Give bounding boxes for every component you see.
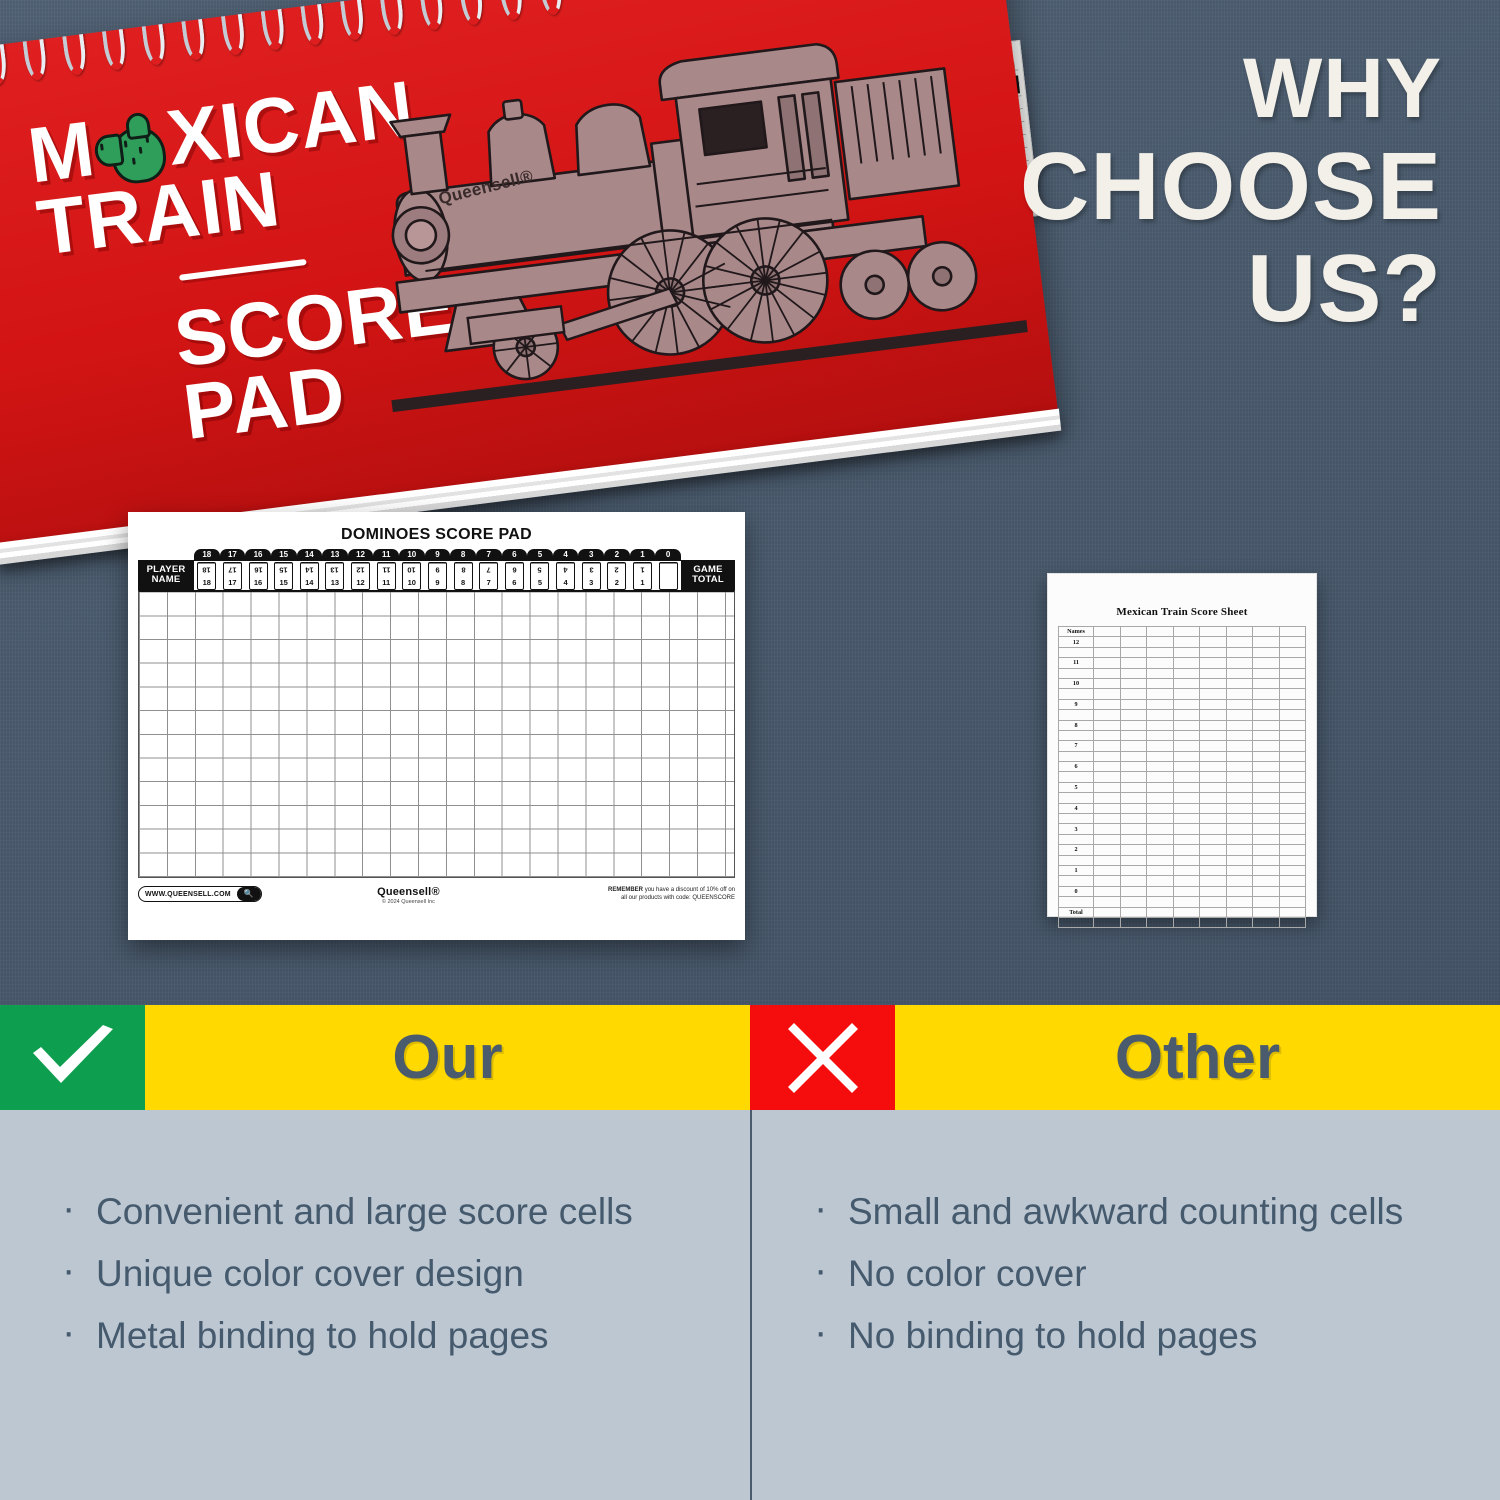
magnifier-icon: 🔍 (237, 887, 261, 901)
domino-tile-icon: 44 (556, 562, 575, 590)
competitor-row-label: 0 (1059, 886, 1094, 896)
competitor-score-cell (1173, 855, 1200, 865)
competitor-score-cell (1173, 824, 1200, 834)
competitor-score-cell (1200, 772, 1227, 782)
footer-brand-block: Queensell® © 2024 Queensell Inc (262, 886, 555, 905)
domino-tile-icon: 22 (607, 562, 626, 590)
domino-column-number: 11 (373, 549, 399, 561)
domino-column: 333 (578, 549, 604, 590)
competitor-score-cell (1226, 762, 1253, 772)
competitor-score-cell (1147, 876, 1174, 886)
competitor-score-cell (1253, 814, 1280, 824)
our-sheet-header-row: PLAYER NAME 1818181717171616161515151414… (138, 546, 735, 590)
competitor-score-cell (1253, 803, 1280, 813)
competitor-score-cell (1094, 782, 1121, 792)
competitor-score-cell (1094, 668, 1121, 678)
competitor-score-cell (1173, 886, 1200, 896)
domino-column-number: 5 (527, 549, 553, 561)
competitor-score-cell (1173, 699, 1200, 709)
competitor-score-cell (1200, 689, 1227, 699)
competitor-score-cell (1120, 886, 1147, 896)
competitor-row-label: Names (1059, 627, 1094, 637)
competitor-score-cell (1253, 637, 1280, 647)
competitor-score-cell (1094, 834, 1121, 844)
competitor-row-label: 4 (1059, 803, 1094, 813)
competitor-score-cell (1200, 782, 1227, 792)
competitor-score-cell (1253, 782, 1280, 792)
competitor-score-cell (1120, 720, 1147, 730)
our-label: Our (392, 1022, 502, 1093)
competitor-score-cell (1173, 689, 1200, 699)
competitor-score-cell (1173, 897, 1200, 907)
competitor-score-cell (1094, 647, 1121, 657)
competitor-score-sheet: Mexican Train Score Sheet Names121110987… (1047, 573, 1317, 917)
domino-column-number: 7 (476, 549, 502, 561)
competitor-score-cell (1147, 845, 1174, 855)
domino-column: 444 (553, 549, 579, 590)
domino-column-number: 6 (502, 549, 528, 561)
competitor-score-cell (1226, 917, 1253, 927)
competitor-score-cell (1173, 647, 1200, 657)
competitor-score-cell (1120, 647, 1147, 657)
domino-tile-icon: 1616 (249, 562, 268, 590)
competitor-score-cell (1147, 730, 1174, 740)
domino-column: 121212 (348, 549, 374, 590)
competitor-score-cell (1173, 668, 1200, 678)
domino-tile-icon: 88 (454, 562, 473, 590)
domino-tile-icon: 1818 (197, 562, 216, 590)
competitor-score-cell (1094, 907, 1121, 917)
competitor-score-cell (1147, 658, 1174, 668)
competitor-table-row: 8 (1059, 720, 1306, 730)
competitor-score-cell (1279, 647, 1306, 657)
competitor-score-cell (1120, 907, 1147, 917)
competitor-score-cell (1147, 647, 1174, 657)
competitor-score-cell (1200, 793, 1227, 803)
competitor-table-row: 10 (1059, 678, 1306, 688)
competitor-score-cell (1147, 814, 1174, 824)
page-title: WHY CHOOSE US? (802, 46, 1442, 337)
domino-column: 141414 (297, 549, 323, 590)
website-badge: WWW.QUEENSELL.COM 🔍 (138, 886, 262, 902)
competitor-score-cell (1253, 762, 1280, 772)
comparison-banners: Our Other (0, 1005, 1500, 1110)
competitor-score-cell (1226, 834, 1253, 844)
our-sheet-footer: WWW.QUEENSELL.COM 🔍 Queensell® © 2024 Qu… (138, 886, 735, 905)
competitor-score-cell (1226, 710, 1253, 720)
competitor-score-cell (1279, 855, 1306, 865)
competitor-score-cell (1094, 710, 1121, 720)
cover-divider (179, 258, 307, 280)
competitor-score-cell (1200, 699, 1227, 709)
competitor-score-cell (1279, 793, 1306, 803)
competitor-score-cell (1226, 699, 1253, 709)
competitor-score-cell (1200, 658, 1227, 668)
domino-column: 555 (527, 549, 553, 590)
competitor-score-cell (1279, 886, 1306, 896)
competitor-score-cell (1173, 658, 1200, 668)
competitor-score-cell (1226, 907, 1253, 917)
competitor-score-cell (1120, 689, 1147, 699)
competitor-score-cell (1173, 845, 1200, 855)
competitor-score-cell (1094, 658, 1121, 668)
competitor-score-cell (1147, 678, 1174, 688)
competitor-score-cell (1226, 668, 1253, 678)
competitor-score-cell (1120, 814, 1147, 824)
competitor-score-cell (1253, 793, 1280, 803)
competitor-score-cell (1253, 834, 1280, 844)
competitor-score-cell (1147, 699, 1174, 709)
domino-tile-icon: 33 (582, 562, 601, 590)
domino-column: 0 (655, 549, 681, 590)
competitor-score-cell (1253, 720, 1280, 730)
competitor-table-row (1059, 668, 1306, 678)
competitor-row-label (1059, 647, 1094, 657)
competitor-score-cell (1094, 876, 1121, 886)
domino-column-number: 9 (425, 549, 451, 561)
competitor-score-cell (1120, 897, 1147, 907)
game-total-line2: TOTAL (681, 575, 735, 585)
competitor-score-cell (1279, 845, 1306, 855)
competitor-score-cell (1120, 668, 1147, 678)
competitor-score-cell (1173, 772, 1200, 782)
domino-column-number: 14 (297, 549, 323, 561)
competitor-score-cell (1200, 855, 1227, 865)
competitor-score-cell (1120, 762, 1147, 772)
bullet-item: No binding to hold pages (814, 1310, 1460, 1362)
competitor-score-cell (1094, 793, 1121, 803)
competitor-row-label (1059, 855, 1094, 865)
competitor-score-cell (1253, 897, 1280, 907)
other-label-banner: Other (895, 1005, 1500, 1110)
competitor-score-cell (1147, 668, 1174, 678)
cactus-icon (91, 113, 172, 184)
competitor-table-row (1059, 751, 1306, 761)
competitor-row-label (1059, 710, 1094, 720)
competitor-row-label: 5 (1059, 782, 1094, 792)
competitor-score-cell (1094, 855, 1121, 865)
competitor-table-row: 9 (1059, 699, 1306, 709)
competitor-score-cell (1279, 689, 1306, 699)
competitor-score-cell (1094, 772, 1121, 782)
competitor-score-cell (1094, 699, 1121, 709)
domino-column-number: 10 (399, 549, 425, 561)
competitor-score-cell (1279, 627, 1306, 637)
competitor-score-cell (1173, 793, 1200, 803)
competitor-score-cell (1226, 720, 1253, 730)
competitor-score-cell (1253, 824, 1280, 834)
competitor-score-cell (1226, 658, 1253, 668)
competitor-score-cell (1226, 730, 1253, 740)
competitor-score-cell (1147, 897, 1174, 907)
competitor-score-cell (1200, 865, 1227, 875)
competitor-score-cell (1094, 824, 1121, 834)
competitor-score-cell (1226, 689, 1253, 699)
domino-column: 181818 (194, 549, 220, 590)
competitor-score-cell (1173, 762, 1200, 772)
competitor-score-cell (1279, 762, 1306, 772)
competitor-score-cell (1200, 730, 1227, 740)
competitor-table-row (1059, 772, 1306, 782)
competitor-score-cell (1279, 897, 1306, 907)
competitor-score-cell (1226, 782, 1253, 792)
competitor-score-cell (1120, 637, 1147, 647)
competitor-score-cell (1253, 627, 1280, 637)
competitor-table-row (1059, 834, 1306, 844)
competitor-score-cell (1173, 720, 1200, 730)
competitor-score-cell (1094, 627, 1121, 637)
competitor-score-cell (1226, 845, 1253, 855)
competitor-row-label (1059, 814, 1094, 824)
competitor-score-cell (1147, 865, 1174, 875)
competitor-score-cell (1200, 710, 1227, 720)
competitor-score-cell (1200, 845, 1227, 855)
competitor-table-row: 12 (1059, 637, 1306, 647)
competitor-row-label (1059, 876, 1094, 886)
competitor-score-cell (1147, 720, 1174, 730)
competitor-score-cell (1226, 824, 1253, 834)
domino-column-number: 2 (604, 549, 630, 561)
competitor-score-cell (1226, 793, 1253, 803)
competitor-score-cell (1147, 886, 1174, 896)
our-bullets-column: Convenient and large score cellsUnique c… (0, 1110, 750, 1500)
cross-mark-icon (750, 1005, 895, 1110)
competitor-score-cell (1279, 814, 1306, 824)
domino-tile-icon: 1515 (274, 562, 293, 590)
competitor-table-row: 7 (1059, 741, 1306, 751)
competitor-sheet-title: Mexican Train Score Sheet (1048, 574, 1316, 618)
competitor-score-cell (1200, 803, 1227, 813)
competitor-score-cell (1279, 720, 1306, 730)
infographic-page: DOMINOES SCORE PAD DOMINOES SCORE PAD DO… (0, 0, 1500, 1500)
competitor-score-cell (1147, 824, 1174, 834)
competitor-score-cell (1147, 772, 1174, 782)
competitor-row-label (1059, 834, 1094, 844)
competitor-score-cell (1173, 782, 1200, 792)
competitor-row-label: 8 (1059, 720, 1094, 730)
competitor-score-cell (1147, 689, 1174, 699)
competitor-score-cell (1200, 897, 1227, 907)
competitor-score-cell (1147, 751, 1174, 761)
hero-section: DOMINOES SCORE PAD DOMINOES SCORE PAD DO… (0, 0, 1500, 1005)
competitor-score-cell (1279, 834, 1306, 844)
competitor-score-cell (1094, 720, 1121, 730)
domino-column-number: 18 (194, 549, 220, 561)
domino-tile-icon: 1010 (402, 562, 421, 590)
competitor-table-row: 4 (1059, 803, 1306, 813)
competitor-score-cell (1200, 876, 1227, 886)
competitor-table-row: Total (1059, 907, 1306, 917)
competitor-score-cell (1173, 678, 1200, 688)
bullet-item: Small and awkward counting cells (814, 1186, 1460, 1238)
competitor-score-cell (1120, 803, 1147, 813)
domino-tile-icon: 1717 (223, 562, 242, 590)
competitor-row-label (1059, 689, 1094, 699)
domino-tile-icon: 99 (428, 562, 447, 590)
competitor-score-cell (1173, 741, 1200, 751)
competitor-table-row: 1 (1059, 865, 1306, 875)
competitor-score-cell (1279, 917, 1306, 927)
competitor-score-cell (1226, 627, 1253, 637)
competitor-table-row (1059, 647, 1306, 657)
competitor-row-label (1059, 730, 1094, 740)
competitor-score-cell (1147, 855, 1174, 865)
bullet-item: Metal binding to hold pages (62, 1310, 710, 1362)
domino-tile-icon: 77 (479, 562, 498, 590)
domino-tile-icon: 55 (530, 562, 549, 590)
competitor-row-label (1059, 772, 1094, 782)
competitor-score-cell (1226, 741, 1253, 751)
competitor-score-cell (1279, 803, 1306, 813)
bullet-item: Unique color cover design (62, 1248, 710, 1300)
competitor-score-cell (1147, 741, 1174, 751)
competitor-score-cell (1279, 730, 1306, 740)
competitor-row-label: Total (1059, 907, 1094, 917)
competitor-row-label (1059, 668, 1094, 678)
competitor-score-cell (1279, 658, 1306, 668)
competitor-score-cell (1226, 772, 1253, 782)
competitor-row-label (1059, 917, 1094, 927)
competitor-score-cell (1094, 678, 1121, 688)
competitor-score-cell (1173, 814, 1200, 824)
competitor-table-row (1059, 897, 1306, 907)
competitor-table-row (1059, 876, 1306, 886)
other-bullets-column: Small and awkward counting cellsNo color… (750, 1110, 1500, 1500)
domino-tile-icon: 1212 (351, 562, 370, 590)
our-bullet-list: Convenient and large score cellsUnique c… (0, 1186, 750, 1362)
competitor-score-cell (1120, 824, 1147, 834)
competitor-score-cell (1120, 845, 1147, 855)
competitor-score-cell (1120, 627, 1147, 637)
domino-tile-icon: 11 (633, 562, 652, 590)
domino-column: 111 (630, 549, 656, 590)
competitor-score-cell (1147, 803, 1174, 813)
our-sheet-title: DOMINOES SCORE PAD (128, 512, 745, 544)
competitor-score-cell (1226, 637, 1253, 647)
competitor-score-cell (1200, 907, 1227, 917)
domino-column: 151515 (271, 549, 297, 590)
player-name-header: PLAYER NAME (138, 560, 194, 590)
competitor-score-cell (1147, 782, 1174, 792)
competitor-row-label: 9 (1059, 699, 1094, 709)
domino-column: 999 (425, 549, 451, 590)
competitor-table-row: 6 (1059, 762, 1306, 772)
footer-brand: Queensell® (262, 886, 555, 898)
other-bullet-list: Small and awkward counting cellsNo color… (752, 1186, 1500, 1362)
competitor-table-row: 2 (1059, 845, 1306, 855)
player-name-line2: NAME (138, 575, 194, 585)
competitor-score-cell (1120, 710, 1147, 720)
competitor-score-cell (1253, 772, 1280, 782)
competitor-score-cell (1120, 855, 1147, 865)
competitor-score-cell (1173, 710, 1200, 720)
competitor-score-cell (1253, 699, 1280, 709)
competitor-table-row: 0 (1059, 886, 1306, 896)
competitor-score-cell (1200, 741, 1227, 751)
domino-tile-icon: 1313 (325, 562, 344, 590)
competitor-table-row (1059, 689, 1306, 699)
domino-column: 131313 (322, 549, 348, 590)
competitor-score-cell (1226, 814, 1253, 824)
domino-column-number: 15 (271, 549, 297, 561)
competitor-score-cell (1200, 678, 1227, 688)
competitor-score-cell (1120, 730, 1147, 740)
other-label: Other (1115, 1022, 1280, 1093)
competitor-score-cell (1147, 917, 1174, 927)
competitor-score-cell (1279, 782, 1306, 792)
competitor-row-label (1059, 793, 1094, 803)
bullet-item: No color cover (814, 1248, 1460, 1300)
competitor-score-cell (1094, 751, 1121, 761)
competitor-score-cell (1253, 668, 1280, 678)
competitor-score-cell (1279, 710, 1306, 720)
competitor-score-cell (1279, 668, 1306, 678)
competitor-score-cell (1173, 637, 1200, 647)
domino-column-number: 16 (245, 549, 271, 561)
competitor-score-cell (1200, 637, 1227, 647)
competitor-score-cell (1253, 658, 1280, 668)
competitor-score-cell (1094, 803, 1121, 813)
competitor-score-cell (1226, 886, 1253, 896)
competitor-score-cell (1120, 772, 1147, 782)
comparison-bullets: Convenient and large score cellsUnique c… (0, 1110, 1500, 1500)
domino-tile-icon: 66 (505, 562, 524, 590)
competitor-score-cell (1147, 637, 1174, 647)
competitor-score-cell (1253, 865, 1280, 875)
competitor-score-cell (1200, 627, 1227, 637)
competitor-score-cell (1147, 710, 1174, 720)
domino-column: 888 (450, 549, 476, 590)
competitor-score-cell (1094, 762, 1121, 772)
competitor-score-cell (1147, 627, 1174, 637)
competitor-score-cell (1253, 917, 1280, 927)
website-url: WWW.QUEENSELL.COM (139, 891, 237, 898)
competitor-score-cell (1147, 793, 1174, 803)
competitor-score-cell (1120, 834, 1147, 844)
competitor-score-cell (1253, 886, 1280, 896)
competitor-score-cell (1226, 678, 1253, 688)
competitor-score-cell (1279, 824, 1306, 834)
competitor-score-cell (1094, 689, 1121, 699)
competitor-score-cell (1253, 689, 1280, 699)
competitor-score-cell (1200, 720, 1227, 730)
competitor-row-label: 2 (1059, 845, 1094, 855)
competitor-sheet-table: Names1211109876543210Total (1058, 626, 1306, 928)
promo-line1: you have a discount of 10% off on (645, 887, 735, 893)
domino-column: 101010 (399, 549, 425, 590)
competitor-score-cell (1200, 886, 1227, 896)
competitor-score-cell (1173, 730, 1200, 740)
competitor-score-cell (1173, 917, 1200, 927)
domino-column-number: 13 (322, 549, 348, 561)
competitor-score-cell (1094, 814, 1121, 824)
competitor-score-cell (1253, 907, 1280, 917)
competitor-score-cell (1173, 834, 1200, 844)
competitor-score-cell (1253, 876, 1280, 886)
competitor-table-row: 5 (1059, 782, 1306, 792)
competitor-score-cell (1094, 741, 1121, 751)
competitor-score-cell (1147, 762, 1174, 772)
domino-column-number: 1 (630, 549, 656, 561)
competitor-row-label: 10 (1059, 678, 1094, 688)
domino-column: 161616 (245, 549, 271, 590)
competitor-score-cell (1200, 834, 1227, 844)
competitor-score-cell (1120, 876, 1147, 886)
other-banner: Other (750, 1005, 1500, 1110)
promo-line2: all our products with code: QUEENSCORE (621, 895, 735, 901)
competitor-score-cell (1120, 782, 1147, 792)
competitor-score-cell (1094, 917, 1121, 927)
